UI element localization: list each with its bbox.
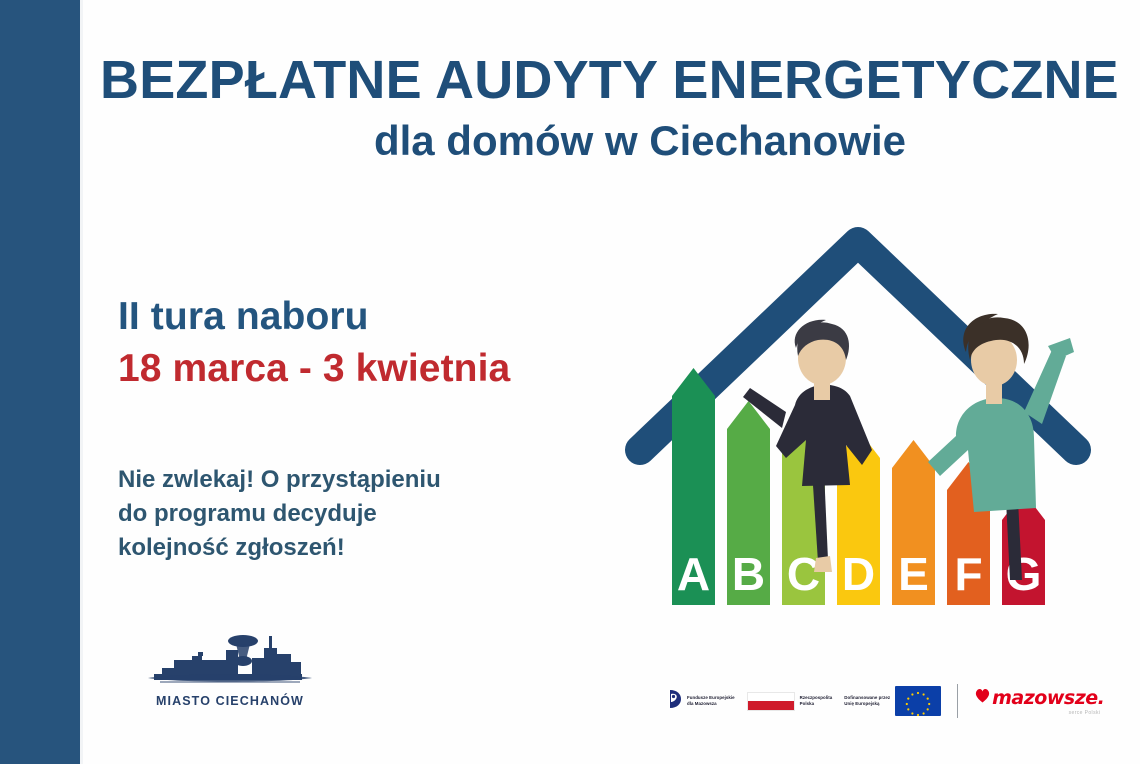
rzeczpospolita-polska-label: Rzeczpospolita Polska — [800, 695, 833, 708]
fundusze-europejskie-label: Fundusze Europejskie dla Mazowsza — [687, 695, 735, 708]
energy-bar-A: A — [672, 368, 715, 605]
note-line-3: kolejność zgłoszeń! — [118, 531, 548, 565]
funding-logos-strip: Fundusze Europejskie dla Mazowsza Rzeczp… — [668, 684, 1104, 718]
fundusze-europejskie-icon — [668, 689, 682, 714]
rzeczpospolita-polska-logo: Rzeczpospolita Polska — [747, 692, 833, 711]
fundusze-europejskie-logo: Fundusze Europejskie dla Mazowsza — [668, 689, 735, 714]
poster-canvas: BEZPŁATNE AUDYTY ENERGETYCZNE dla domów … — [0, 0, 1140, 764]
svg-text:C: C — [787, 548, 820, 600]
eu-flag-icon — [895, 686, 941, 716]
svg-text:E: E — [898, 548, 929, 600]
energy-bar-B: B — [727, 401, 770, 605]
recruitment-round-label: II tura naboru — [118, 295, 638, 339]
svg-text:D: D — [842, 548, 875, 600]
mazowsze-tagline: serce Polski — [1069, 710, 1101, 716]
poland-flag-icon — [747, 692, 795, 711]
eu-funding-logo: Dofinansowane przez Unię Europejską — [844, 686, 941, 716]
mazowsze-wordmark: mazowsze. — [992, 687, 1104, 709]
svg-text:B: B — [732, 548, 765, 600]
energy-illustration: A B C D — [600, 200, 1120, 620]
note-paragraph: Nie zwlekaj! O przystąpieniu do programu… — [118, 463, 548, 565]
left-accent-bar-edge — [80, 0, 83, 764]
title-subtitle: dla domów w Ciechanowie — [100, 118, 1110, 164]
eu-funding-label: Dofinansowane przez Unię Europejską — [844, 695, 890, 708]
city-logo: MIASTO CIECHANÓW — [140, 630, 320, 708]
note-line-2: do programu decyduje — [118, 497, 548, 531]
mazowsze-logo: mazowsze. serce Polski — [974, 687, 1104, 716]
city-logo-label: MIASTO CIECHANÓW — [140, 694, 320, 708]
recruitment-block: II tura naboru 18 marca - 3 kwietnia — [118, 295, 638, 390]
page-title: BEZPŁATNE AUDYTY ENERGETYCZNE dla domów … — [100, 52, 1110, 164]
date-range-label: 18 marca - 3 kwietnia — [118, 347, 638, 391]
svg-text:A: A — [677, 548, 710, 600]
energy-bar-E: E — [892, 440, 935, 605]
city-skyline-icon — [140, 630, 320, 690]
left-accent-bar — [0, 0, 80, 764]
svg-text:F: F — [954, 548, 982, 600]
title-main: BEZPŁATNE AUDYTY ENERGETYCZNE — [100, 52, 1110, 108]
heart-icon — [974, 687, 991, 709]
logo-divider — [957, 684, 958, 718]
note-line-1: Nie zwlekaj! O przystąpieniu — [118, 463, 548, 497]
